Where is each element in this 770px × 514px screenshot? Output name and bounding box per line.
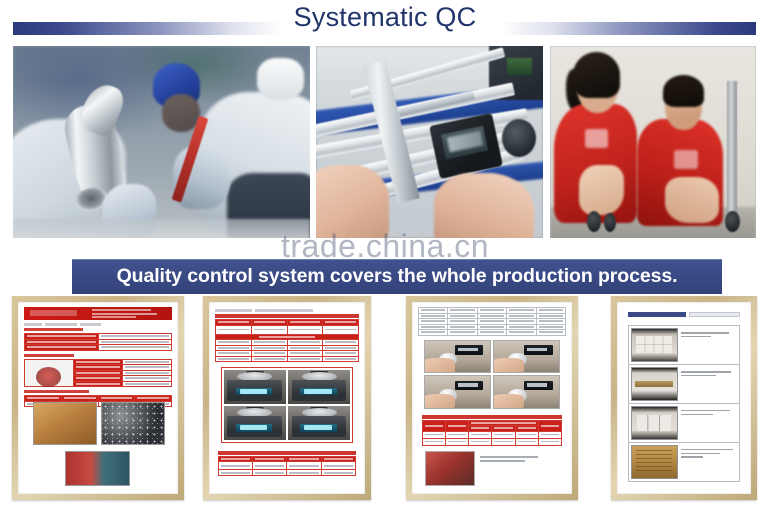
page-header: Systematic QC (0, 0, 770, 46)
document1-section-title-1 (24, 328, 172, 331)
page-title: Systematic QC (0, 2, 770, 33)
document3-remark-text (480, 456, 554, 471)
caption-banner-text: Quality control system covers the whole … (117, 265, 678, 288)
document2-table-weight (215, 319, 359, 362)
frame-mat-4 (617, 302, 751, 494)
document4-photo-product-in-white-box (631, 367, 678, 401)
framed-document-packing-inspection-report (611, 296, 757, 500)
document2-table-function (218, 456, 356, 476)
document1-table-order (24, 333, 172, 351)
document-sheet-3 (418, 307, 566, 489)
document-sheet-4 (623, 307, 745, 489)
document4-photo-carton-partition (631, 406, 678, 440)
photo3-man-logo (674, 150, 699, 169)
document1-section-title-2 (24, 354, 172, 357)
document3-table-result (422, 420, 561, 446)
photo3-man-hair (663, 75, 704, 108)
document2-header-line (215, 309, 359, 312)
framed-documents-row (0, 296, 770, 502)
document2-section-title (215, 314, 359, 317)
document3-photo-packing-detail (425, 451, 474, 486)
document3-photo-grid (424, 340, 560, 409)
photo1-bench-surface (13, 219, 310, 238)
photo3-man-arms (665, 177, 719, 223)
document2-photo-digital-scale-reading-4 (288, 406, 350, 440)
framed-document-qc-inspection-report-cover (12, 296, 184, 500)
document1-photo-label-and-marking (65, 451, 129, 486)
frame-mat-1 (18, 302, 178, 494)
document4-note-4 (681, 445, 738, 479)
document4-photo-wooden-packing-panel (631, 445, 678, 479)
document4-note-2 (681, 367, 738, 401)
document-sheet-1 (24, 307, 172, 489)
photo3-woman-logo (585, 129, 608, 148)
document4-row (629, 443, 739, 481)
document4-header-bar (628, 312, 740, 317)
photo1-face-mask (257, 58, 305, 100)
framed-document-weight-inspection-report (203, 296, 371, 500)
photo-factory-workers-inspecting-chrome-pipe (13, 46, 310, 238)
photo-digital-caliper-measuring-profiles (316, 46, 543, 238)
framed-document-size-measurement-report (406, 296, 578, 500)
document1-red-header (24, 307, 172, 320)
document4-note-1 (681, 328, 738, 362)
document4-row-list (628, 325, 740, 482)
photo2-hand-right (434, 173, 534, 238)
document2-photo-digital-scale-reading-2 (288, 370, 350, 404)
document1-photo-carton-packaging (33, 402, 97, 446)
document2-photo-digital-scale-reading-3 (224, 406, 286, 440)
photo3-woman-hair (573, 52, 620, 98)
document3-section-title (422, 415, 561, 418)
document3-photo-caliper-measuring-ball-4 (493, 375, 560, 409)
document4-row (629, 365, 739, 404)
document3-table-dimensions (418, 307, 566, 336)
document3-photo-caliper-measuring-ball-1 (424, 340, 491, 374)
frame-mat-2 (209, 302, 365, 494)
document2-section-title-2 (218, 451, 356, 454)
photo3-caster-2 (604, 213, 616, 232)
photo3-metal-pole (727, 81, 737, 219)
photo2-green-display (507, 58, 532, 75)
document2-photo-grid (221, 367, 353, 443)
photo2-hand-left (316, 165, 389, 238)
document1-company-seal (36, 367, 61, 387)
photo3-woman-arms (579, 165, 624, 215)
document4-photo-carton-inner-grid (631, 328, 678, 362)
document1-section-title-3 (24, 390, 172, 393)
caption-banner: Quality control system covers the whole … (72, 259, 722, 294)
document1-photo-steel-balls-bulk (101, 402, 165, 446)
photo-row (0, 46, 770, 240)
document3-photo-caliper-measuring-ball-2 (493, 340, 560, 374)
document3-photo-caliper-measuring-ball-3 (424, 375, 491, 409)
document4-note-3 (681, 406, 738, 440)
document4-row (629, 326, 739, 365)
frame-mat-3 (412, 302, 572, 494)
document-sheet-2 (215, 307, 359, 489)
document4-row (629, 404, 739, 443)
photo3-caster-3 (725, 211, 739, 232)
document2-photo-digital-scale-reading-1 (224, 370, 286, 404)
photo-staff-assembling-in-red-uniforms (550, 46, 756, 238)
document1-meta-line (24, 323, 172, 326)
